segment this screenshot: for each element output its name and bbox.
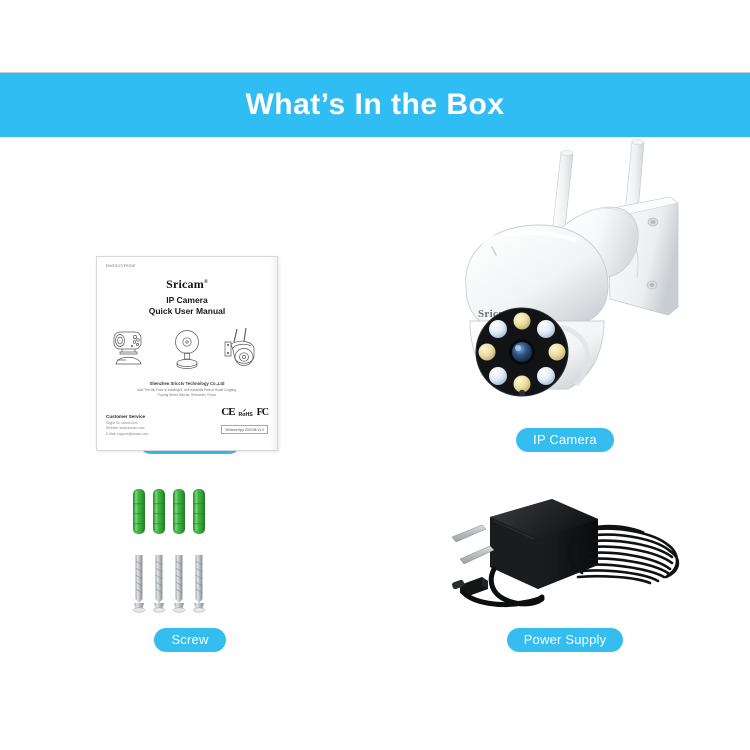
- bullet-camera-line-art: [108, 326, 154, 372]
- item-screw: Screw: [20, 477, 360, 750]
- warm-led-left: [479, 344, 496, 361]
- wall-anchor: [173, 489, 185, 534]
- lens-highlight: [515, 345, 521, 351]
- ir-led-top-right: [537, 320, 555, 338]
- camera-label-row: IP Camera: [390, 428, 740, 452]
- screw-label-row: Screw: [20, 628, 360, 652]
- warm-led-top: [514, 313, 531, 330]
- ptz-camera-line-art: [220, 326, 266, 372]
- manual-title-line1: IP Camera: [106, 295, 268, 305]
- manual-address: Add: The 4th Floor of building#2, Anli I…: [106, 388, 268, 398]
- ptz-camera-svg: Sricam: [440, 137, 700, 422]
- manual-languages: EN/ES/IT/FR/DE: [106, 264, 268, 268]
- ir-led-bottom-right: [537, 367, 555, 385]
- power-adapter-photo: [430, 477, 700, 622]
- service-title: Customer Service: [106, 414, 148, 419]
- manual-booklet: EN/ES/IT/FR/DE Sricam® IP Camera Quick U…: [96, 256, 278, 451]
- product-infographic-page: What’s In the Box EN/ES/IT/FR/DE Sricam®…: [0, 0, 750, 750]
- screw: [193, 555, 204, 612]
- manual-address-line2: Fuyong Street, Bao'an, Shenzhen, China.: [106, 393, 268, 398]
- cert-logos-row: CE ✓ RoHS FC: [221, 406, 268, 418]
- power-label-row: Power Supply: [390, 628, 740, 652]
- screw: [153, 555, 164, 612]
- item-power-supply: Power Supply: [390, 477, 740, 750]
- screw-artwork: [20, 477, 360, 622]
- wall-anchor: [133, 489, 145, 534]
- page-title: What’s In the Box: [245, 88, 504, 122]
- power-artwork: [390, 477, 740, 622]
- item-instructions: EN/ES/IT/FR/DE Sricam® IP Camera Quick U…: [20, 192, 360, 522]
- light-sensor-icon: [519, 390, 525, 396]
- power-adapter-svg: [430, 477, 700, 622]
- service-skype: Skype ID: sricctv.com: [106, 421, 148, 425]
- wall-anchor: [193, 489, 205, 534]
- manual-camera-illustrations: [106, 324, 268, 372]
- manual-app-version: SriHome App 2020/08-V2.0: [221, 425, 268, 434]
- manual-title-line2: Quick User Manual: [106, 306, 268, 316]
- ir-led-bottom-left: [489, 367, 507, 385]
- item-ip-camera: Sricam: [390, 137, 740, 522]
- manual-footer: Customer Service Skype ID: sricctv.com W…: [106, 406, 268, 436]
- label-ip-camera: IP Camera: [516, 428, 614, 452]
- service-website: Website: www.sricam.com: [106, 426, 148, 430]
- camera-lens: [512, 342, 532, 362]
- rohs-mark-icon: ✓ RoHS: [239, 412, 253, 418]
- manual-certifications: CE ✓ RoHS FC SriHome App 2020/08-V2.0: [221, 406, 268, 436]
- screw: [173, 555, 184, 612]
- manual-brand-mark: ®: [204, 280, 208, 285]
- ptz-camera-photo: Sricam: [440, 137, 700, 422]
- manual-company: Shenzhen Sricctv Technology Co.,Ltd: [106, 381, 268, 386]
- camera-artwork: Sricam: [390, 137, 740, 422]
- manual-brand: Sricam®: [106, 277, 268, 292]
- wall-anchors: [133, 489, 205, 534]
- manual-brand-text: Sricam: [166, 277, 204, 291]
- header-banner: What’s In the Box: [0, 72, 750, 137]
- screw: [133, 555, 144, 612]
- screws: [133, 555, 204, 612]
- label-screw: Screw: [154, 628, 225, 652]
- wall-anchor: [153, 489, 165, 534]
- warm-led-right: [549, 344, 566, 361]
- label-power-supply: Power Supply: [507, 628, 624, 652]
- dome-indoor-camera-line-art: [166, 326, 208, 372]
- ce-mark-icon: CE: [221, 406, 234, 418]
- ir-led-top-left: [489, 320, 507, 338]
- rohs-check-icon: ✓: [243, 408, 247, 414]
- fcc-mark-icon: FC: [257, 407, 268, 418]
- plug-prongs-icon: [452, 525, 494, 564]
- dc-barrel-connector: [451, 577, 488, 597]
- screws-svg: [20, 477, 360, 622]
- manual-customer-service: Customer Service Skype ID: sricctv.com W…: [106, 414, 148, 436]
- instructions-artwork: EN/ES/IT/FR/DE Sricam® IP Camera Quick U…: [20, 192, 360, 424]
- camera-lens-faceplate: [476, 308, 568, 396]
- service-email: E-Mail: support@sricam.com: [106, 432, 148, 436]
- items-grid: EN/ES/IT/FR/DE Sricam® IP Camera Quick U…: [0, 137, 750, 750]
- screws-photo: [20, 477, 360, 622]
